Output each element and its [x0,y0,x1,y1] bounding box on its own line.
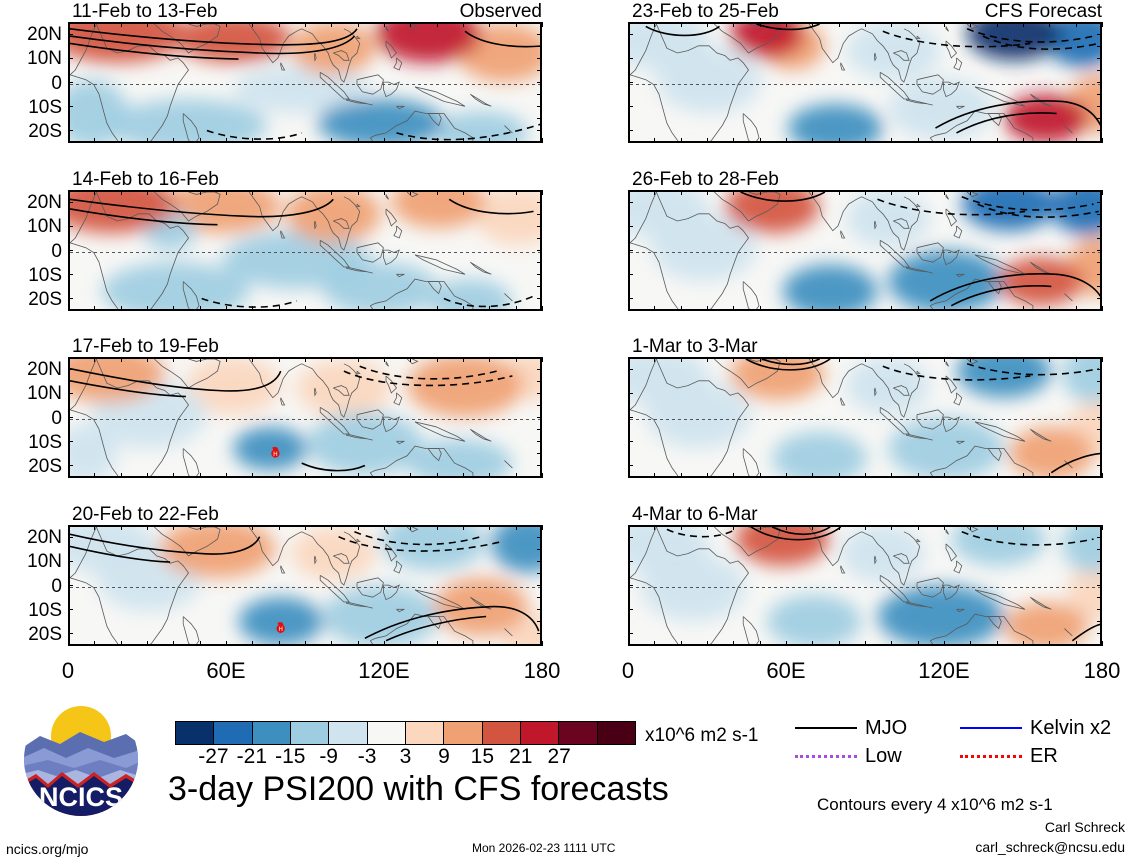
legend-row: Low ER [795,742,1125,770]
y-tick [1097,621,1102,622]
x-tick [410,357,411,362]
colorbar-tick: -27 [198,746,228,767]
x-tick [681,357,682,362]
x-tick [121,138,122,143]
map-obs-2 [68,190,542,311]
x-tick [200,525,201,530]
x-tick [1049,641,1050,646]
y-tick [628,34,633,35]
x-tick [654,22,655,27]
y-tick [537,621,542,622]
colorbar-swatch-2 [253,722,291,744]
y-axis-label: 0 [0,577,62,596]
y-tick [1097,441,1102,442]
x-tick [1076,641,1077,646]
panel-title-fcst-4: 4-Mar to 6-Mar [632,505,758,524]
y-tick [1097,94,1102,95]
x-tick [707,525,708,530]
y-tick [537,405,542,406]
colorbar-tick: 21 [509,746,532,767]
y-tick [68,585,73,586]
x-tick [839,306,840,311]
x-tick [839,190,840,195]
y-tick [1097,106,1102,107]
x-tick [970,473,971,478]
x-tick [786,306,787,311]
y-tick [537,597,542,598]
x-tick [358,190,359,195]
colorbar-swatch-3 [291,722,329,744]
y-tick [537,274,542,275]
colorbar-swatch-7 [444,722,482,744]
x-tick [628,525,629,530]
x-tick [865,190,866,195]
y-tick [628,465,633,466]
kelvin-line-icon [960,727,1022,729]
x-tick [944,473,945,478]
x-tick [891,473,892,478]
y-tick [1097,250,1102,251]
x-tick [1049,525,1050,530]
x-tick [944,306,945,311]
x-tick [1023,190,1024,195]
x-tick [812,190,813,195]
x-tick [812,306,813,311]
x-tick [358,306,359,311]
x-tick [891,190,892,195]
x-tick [542,525,543,530]
x-tick [384,473,385,478]
x-tick [1049,138,1050,143]
x-tick [489,306,490,311]
x-tick [760,357,761,362]
x-tick [1023,22,1024,27]
x-tick [839,138,840,143]
x-tick [489,525,490,530]
x-tick [997,306,998,311]
x-tick [147,138,148,143]
y-tick [537,549,542,550]
y-axis-label: 0 [0,242,62,261]
y-tick [1097,393,1102,394]
x-tick [331,473,332,478]
colorbar-tick: 27 [547,746,570,767]
x-tick [1023,473,1024,478]
svg-text:H: H [278,627,282,633]
x-tick [68,357,69,362]
x-tick [226,473,227,478]
colorbar-swatch-4 [329,722,367,744]
x-tick [970,641,971,646]
x-tick [1049,357,1050,362]
x-tick [121,473,122,478]
y-tick [537,537,542,538]
colorbar-swatch-6 [406,722,444,744]
x-tick [437,22,438,27]
x-tick [812,22,813,27]
y-tick [537,130,542,131]
x-tick [252,22,253,27]
y-axis-label: 20S [0,290,62,309]
panel-title-obs-4: 20-Feb to 22-Feb [72,505,219,524]
x-tick [68,190,69,195]
x-tick [147,641,148,646]
x-tick [384,138,385,143]
y-axis-label: 20N [0,193,62,212]
x-tick [733,641,734,646]
x-tick [707,357,708,362]
y-tick [537,633,542,634]
x-tick [94,641,95,646]
x-tick [463,641,464,646]
x-tick [358,22,359,27]
x-tick [628,22,629,27]
x-tick [410,190,411,195]
x-tick [305,357,306,362]
mjo-line-icon [795,727,857,729]
contour-legend: MJO Kelvin x2 Low ER [795,714,1125,770]
colorbar-swatch-5 [368,722,406,744]
x-tick [68,138,69,143]
x-tick [707,641,708,646]
x-tick [786,641,787,646]
x-tick [733,138,734,143]
x-tick [733,357,734,362]
x-tick [542,190,543,195]
y-tick [537,453,542,454]
x-tick [812,357,813,362]
map-fcst-2 [628,190,1102,311]
x-tick [226,22,227,27]
x-tick [463,473,464,478]
x-tick [891,306,892,311]
x-tick [839,473,840,478]
x-tick [1102,473,1103,478]
x-tick [463,22,464,27]
x-tick [707,190,708,195]
y-tick [1097,381,1102,382]
y-axis-label: 10N [0,49,62,68]
x-tick [410,525,411,530]
author-email: carl_schreck@ncsu.edu [975,840,1125,854]
x-tick [542,138,543,143]
y-tick [537,238,542,239]
x-tick [279,190,280,195]
legend-item-low: Low [795,746,960,766]
x-tick [226,641,227,646]
x-tick [516,525,517,530]
x-tick [463,357,464,362]
map-fcst-1 [628,22,1102,143]
x-tick [970,525,971,530]
x-tick [918,190,919,195]
y-tick [537,298,542,299]
x-tick [786,138,787,143]
x-tick [463,190,464,195]
y-tick [628,561,633,562]
x-tick [1049,190,1050,195]
x-tick [1102,22,1103,27]
x-tick [1076,138,1077,143]
x-tick [1023,138,1024,143]
x-tick [628,306,629,311]
x-tick [760,138,761,143]
x-tick [516,357,517,362]
x-tick [812,525,813,530]
x-tick [654,138,655,143]
x-tick [970,138,971,143]
x-tick [489,138,490,143]
x-tick [918,641,919,646]
x-tick [437,473,438,478]
y-tick [628,609,633,610]
x-tick [1049,473,1050,478]
x-tick [970,306,971,311]
colorbar-tick: -15 [275,746,305,767]
site-url-footer[interactable]: ncics.org/mjo [6,842,88,856]
x-tick [331,525,332,530]
x-tick [305,473,306,478]
y-tick [1097,465,1102,466]
x-tick [200,22,201,27]
x-tick [173,473,174,478]
x-tick [839,525,840,530]
x-tick [68,473,69,478]
y-tick [1097,549,1102,550]
x-tick [68,306,69,311]
y-tick [1097,226,1102,227]
svg-text:H: H [273,452,277,458]
x-tick [1023,525,1024,530]
y-tick [537,70,542,71]
y-tick [68,202,73,203]
y-tick [1097,561,1102,562]
y-tick [537,561,542,562]
column-header-observed: Observed [68,2,542,21]
y-tick [537,286,542,287]
y-tick [1097,46,1102,47]
column-header-cfs-forecast: CFS Forecast [628,2,1102,21]
y-axis-label: 20S [0,625,62,644]
x-tick [918,138,919,143]
y-tick [537,585,542,586]
x-tick [1076,306,1077,311]
x-tick [437,190,438,195]
y-tick [1097,34,1102,35]
panel-title-obs-3: 17-Feb to 19-Feb [72,337,219,356]
x-tick [1023,306,1024,311]
x-tick [786,525,787,530]
y-tick [1097,118,1102,119]
x-tick [121,190,122,195]
x-tick [331,306,332,311]
x-tick [147,306,148,311]
x-tick [173,641,174,646]
y-tick [628,441,633,442]
x-tick [279,525,280,530]
panel-title-fcst-2: 26-Feb to 28-Feb [632,170,779,189]
author-name: Carl Schreck [1045,820,1125,834]
x-tick [654,641,655,646]
colorbar-swatch-10 [559,722,597,744]
x-tick [121,525,122,530]
map-obs-3: H [68,357,542,478]
y-tick [68,226,73,227]
y-tick [628,537,633,538]
x-tick [865,138,866,143]
x-tick [489,641,490,646]
y-axis-label: 20N [0,528,62,547]
x-tick [891,357,892,362]
map-obs-4: H [68,525,542,646]
x-tick [944,357,945,362]
y-tick [537,46,542,47]
x-tick [489,357,490,362]
generation-timestamp: Mon 2026-02-23 1111 UTC [472,842,615,854]
y-axis-label: 0 [0,74,62,93]
x-tick [839,22,840,27]
x-tick [733,22,734,27]
x-tick [68,641,69,646]
x-tick [654,357,655,362]
y-axis-label: 10S [0,601,62,620]
x-tick [918,22,919,27]
x-tick [147,22,148,27]
x-tick [200,190,201,195]
x-tick [252,473,253,478]
x-tick [410,306,411,311]
x-tick [707,473,708,478]
x-tick [707,138,708,143]
x-tick [944,22,945,27]
x-tick [173,190,174,195]
x-tick [437,138,438,143]
x-tick [1076,190,1077,195]
x-tick [542,641,543,646]
y-tick [628,298,633,299]
x-tick [681,473,682,478]
x-tick [628,357,629,362]
x-tick [542,473,543,478]
x-tick [812,473,813,478]
x-tick [252,138,253,143]
x-axis-label: 60E [206,660,245,682]
x-tick [358,357,359,362]
x-tick [654,306,655,311]
y-tick [1097,453,1102,454]
x-tick [839,357,840,362]
x-tick [628,138,629,143]
y-tick [68,393,73,394]
y-tick [1097,274,1102,275]
x-tick [384,190,385,195]
x-tick [970,22,971,27]
y-tick [628,633,633,634]
y-tick [537,118,542,119]
x-tick [173,357,174,362]
x-tick [760,306,761,311]
y-tick [537,214,542,215]
y-tick [68,250,73,251]
colorbar-swatch-8 [483,722,521,744]
x-tick [410,22,411,27]
x-tick [891,525,892,530]
x-tick [542,306,543,311]
x-tick [331,190,332,195]
x-tick [147,473,148,478]
x-tick [94,138,95,143]
y-tick [68,298,73,299]
x-tick [1102,641,1103,646]
x-tick [707,22,708,27]
y-axis-label: 20S [0,457,62,476]
colorbar-swatch-11 [598,722,635,744]
x-tick [1102,357,1103,362]
x-tick [516,190,517,195]
x-tick [200,473,201,478]
legend-label-kelvin: Kelvin x2 [1030,718,1111,738]
x-tick [331,22,332,27]
x-axis-label: 180 [524,660,561,682]
x-axis-label: 0 [622,660,634,682]
y-tick [1097,585,1102,586]
x-tick [200,641,201,646]
y-axis-label: 10S [0,98,62,117]
y-tick [537,82,542,83]
x-tick [463,138,464,143]
x-tick [681,306,682,311]
x-tick [944,525,945,530]
y-tick [1097,298,1102,299]
y-tick [1097,537,1102,538]
x-tick [681,22,682,27]
x-tick [437,525,438,530]
x-tick [94,525,95,530]
colorbar-tick: 3 [400,746,412,767]
y-tick [628,274,633,275]
x-tick [1076,525,1077,530]
colorbar-swatch-9 [521,722,559,744]
x-tick [865,306,866,311]
y-tick [628,202,633,203]
y-tick [1097,417,1102,418]
y-tick [1097,58,1102,59]
legend-item-mjo: MJO [795,718,960,738]
ncics-logo: NCICS [22,700,140,818]
x-tick [1102,190,1103,195]
x-tick [681,138,682,143]
x-tick [733,525,734,530]
colorbar-tick: 15 [471,746,494,767]
colorbar: -27-21-15-9-339152127 [175,721,636,772]
y-tick [628,250,633,251]
y-tick [537,441,542,442]
map-fcst-3 [628,357,1102,478]
colorbar-tick: 9 [438,746,450,767]
y-tick [68,82,73,83]
y-tick [628,417,633,418]
x-tick [252,525,253,530]
x-tick [865,473,866,478]
y-tick [68,106,73,107]
colorbar-tick: -21 [237,746,267,767]
x-tick [173,306,174,311]
map-fcst-4 [628,525,1102,646]
y-axis-label: 10N [0,217,62,236]
x-tick [681,190,682,195]
y-tick [1097,573,1102,574]
x-tick [305,190,306,195]
